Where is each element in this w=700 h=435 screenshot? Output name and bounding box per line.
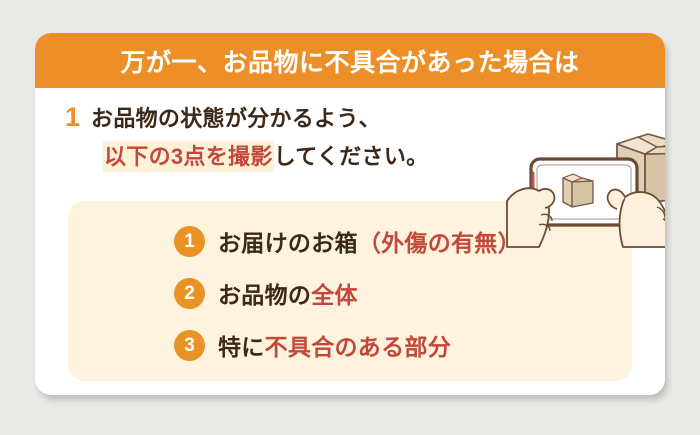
header-title: 万が一、お品物に不具合があった場合は [120, 43, 579, 79]
list-item-text-1: お届けのお箱（外傷の有無） [218, 224, 521, 258]
list-badge-1: 1 [174, 226, 205, 257]
instruction-card: 万が一、お品物に不具合があった場合は 1 お品物の状態が分かるよう、 以下の3点… [35, 33, 665, 395]
list-item-1-plain: お届けのお箱 [218, 230, 358, 256]
list-item: 3 特に不具合のある部分 [68, 319, 632, 371]
highlighted-phrase: 以下の3点を撮影 [103, 141, 274, 172]
list-item-2-accent: 全体 [311, 282, 358, 308]
list-badge-3: 3 [174, 330, 205, 361]
list-item-2-plain: お品物の [218, 282, 311, 308]
step-line-2: 以下の3点を撮影してください。 [103, 139, 535, 171]
hands-holding-tablet-icon [505, 123, 665, 253]
card-header: 万が一、お品物に不具合があった場合は [35, 33, 665, 88]
step-text-line1: お品物の状態が分かるよう、 [91, 101, 381, 133]
list-item-text-3: 特に不具合のある部分 [218, 328, 451, 362]
list-item: 2 お品物の全体 [68, 267, 632, 319]
list-item-3-plain: 特に [218, 334, 265, 360]
list-item-1-accent: （外傷の有無） [358, 230, 521, 256]
step-line-1: 1 お品物の状態が分かるよう、 [65, 101, 535, 133]
list-badge-2: 2 [174, 278, 205, 309]
step-number: 1 [65, 104, 80, 131]
list-item-3-accent: 不具合のある部分 [265, 334, 451, 360]
left-hand [507, 188, 554, 247]
step-block: 1 お品物の状態が分かるよう、 以下の3点を撮影してください。 [65, 101, 535, 171]
step-text-tail: してください。 [274, 144, 429, 169]
list-item-text-2: お品物の全体 [218, 276, 358, 310]
